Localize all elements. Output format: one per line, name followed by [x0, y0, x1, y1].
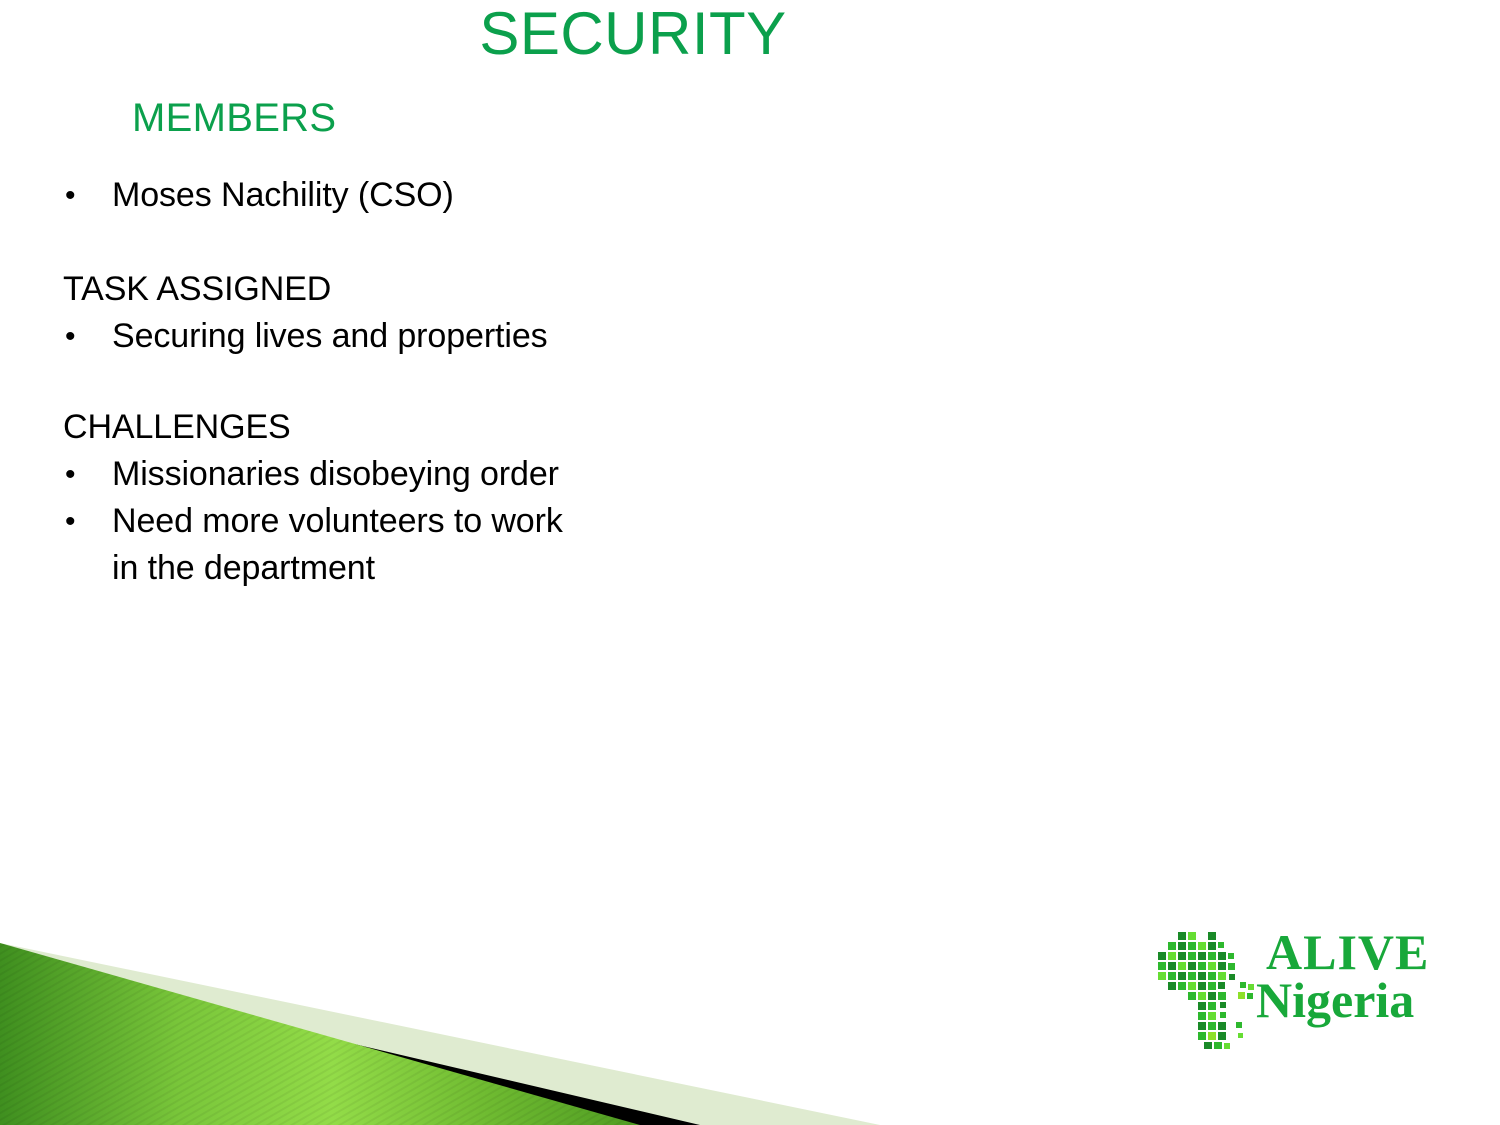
slide-canvas: SECURITY MEMBERS • Moses Nachility (CSO)…: [0, 0, 1500, 1125]
green-wedge-texture: [0, 943, 640, 1125]
page-title: SECURITY: [0, 2, 1266, 65]
logo-alive-text: ALIVE: [1256, 928, 1429, 976]
logo-wordmark: ALIVE Nigeria: [1256, 928, 1429, 1024]
body-content: • Moses Nachility (CSO) TASK ASSIGNED • …: [60, 172, 780, 592]
logo-nigeria-text: Nigeria: [1256, 976, 1429, 1024]
list-item: • Missionaries disobeying order: [60, 451, 780, 498]
black-stripe: [0, 961, 700, 1125]
list-item: • Need more volunteers to work: [60, 498, 780, 545]
list-item-continuation: in the department: [60, 545, 780, 592]
list-item-label: Securing lives and properties: [112, 317, 548, 355]
logo: ALIVE Nigeria: [1152, 922, 1442, 1052]
bullet-icon: •: [65, 451, 83, 498]
bullet-icon: •: [65, 313, 83, 360]
list-item: • Securing lives and properties: [60, 313, 780, 360]
bullet-icon: •: [65, 172, 83, 219]
list-item-label: Moses Nachility (CSO): [112, 176, 454, 214]
corner-decoration-graphic: [0, 925, 900, 1125]
bullet-icon: •: [65, 498, 83, 545]
members-heading: MEMBERS: [132, 96, 336, 140]
corner-decoration: [0, 925, 900, 1125]
list-item: • Moses Nachility (CSO): [60, 172, 780, 219]
section-spacer: [60, 219, 780, 266]
pale-stripe: [0, 943, 880, 1125]
list-item-label: Missionaries disobeying order: [112, 455, 559, 493]
challenges-heading: CHALLENGES: [60, 404, 780, 451]
list-item-label: Need more volunteers to work: [112, 502, 563, 540]
section-spacer: [60, 360, 780, 404]
green-wedge: [0, 943, 640, 1125]
task-assigned-heading: TASK ASSIGNED: [60, 266, 780, 313]
